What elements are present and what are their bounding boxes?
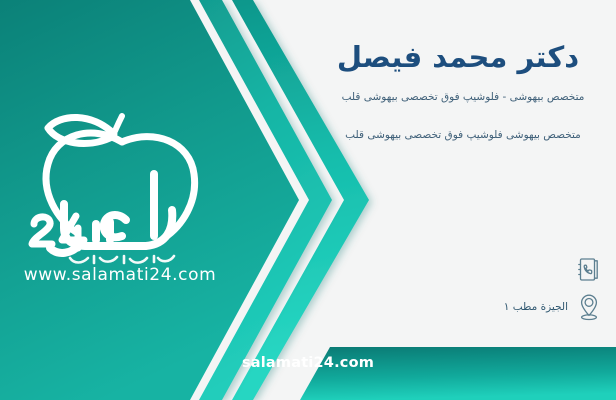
location-pin-icon[interactable] xyxy=(576,292,602,322)
contact-block: الجیزة مطب ۱ xyxy=(312,250,602,326)
contact-location-label: الجیزة مطب ۱ xyxy=(504,301,568,313)
doctor-name: دکتر محمد فیصل xyxy=(316,40,600,74)
footer-website[interactable]: salamati24.com xyxy=(0,355,616,371)
specialty-line-2: متخصص بیهوشی فلوشیپ فوق تخصصی بیهوشی قلب xyxy=(316,129,610,141)
logo-website-text: www.salamati24.com xyxy=(24,265,216,283)
logo-artwork: www.salamati24.com xyxy=(14,98,226,283)
phonebook-icon[interactable] xyxy=(576,254,602,284)
specialty-line-1: متخصص بیهوشی - فلوشیپ فوق تخصصی بیهوشی ق… xyxy=(316,91,610,103)
doctor-profile-card: www.salamati24.com دکتر محمد فیصل متخصص … xyxy=(0,0,616,400)
contact-row-location[interactable]: الجیزة مطب ۱ xyxy=(312,288,602,326)
card-content: دکتر محمد فیصل متخصص بیهوشی - فلوشیپ فوق… xyxy=(310,0,616,400)
salamati24-logo: www.salamati24.com xyxy=(14,98,226,283)
contact-row-phone[interactable] xyxy=(312,250,602,288)
